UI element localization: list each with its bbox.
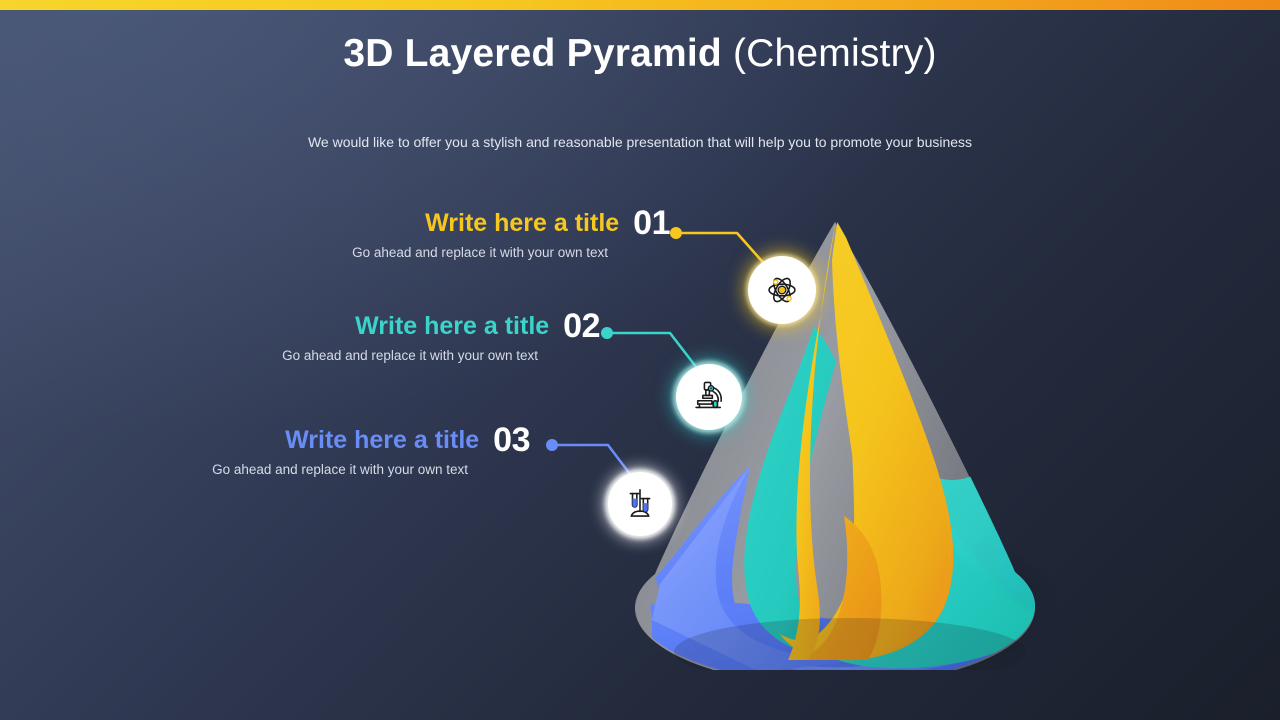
item-02-number: 02 bbox=[563, 309, 600, 343]
pyramid-item-03[interactable]: Write here a title 03 Go ahead and repla… bbox=[98, 423, 530, 480]
microscope-icon bbox=[689, 377, 729, 417]
item-03-number: 03 bbox=[493, 423, 530, 457]
item-01-number: 01 bbox=[633, 206, 670, 240]
item-01-title: Write here a title bbox=[425, 208, 619, 238]
atom-icon bbox=[762, 270, 802, 310]
pyramid-item-02[interactable]: Write here a title 02 Go ahead and repla… bbox=[168, 309, 600, 366]
pyramid-graphic bbox=[600, 200, 1070, 670]
item-01-description: Go ahead and replace it with your own te… bbox=[238, 243, 670, 263]
page-subtitle: We would like to offer you a stylish and… bbox=[0, 131, 1280, 153]
top-accent-bar bbox=[0, 0, 1280, 10]
item-02-head: Write here a title 02 bbox=[168, 309, 600, 343]
item-03-head: Write here a title 03 bbox=[98, 423, 530, 457]
page-title-light: (Chemistry) bbox=[733, 32, 937, 75]
item-02-description: Go ahead and replace it with your own te… bbox=[168, 346, 600, 366]
test-tubes-icon bbox=[620, 484, 660, 524]
item-02-title: Write here a title bbox=[355, 311, 549, 341]
page-title: 3D Layered Pyramid (Chemistry) bbox=[0, 28, 1280, 80]
icon-badge-01[interactable] bbox=[748, 256, 816, 324]
pyramid-item-01[interactable]: Write here a title 01 Go ahead and repla… bbox=[238, 206, 670, 263]
page-title-strong: 3D Layered Pyramid bbox=[343, 32, 733, 75]
icon-badge-02[interactable] bbox=[676, 364, 742, 430]
item-03-description: Go ahead and replace it with your own te… bbox=[98, 460, 530, 480]
icon-badge-03[interactable] bbox=[608, 472, 672, 536]
item-03-title: Write here a title bbox=[285, 425, 479, 455]
slide-canvas: 3D Layered Pyramid (Chemistry) We would … bbox=[0, 0, 1280, 720]
item-01-head: Write here a title 01 bbox=[238, 206, 670, 240]
